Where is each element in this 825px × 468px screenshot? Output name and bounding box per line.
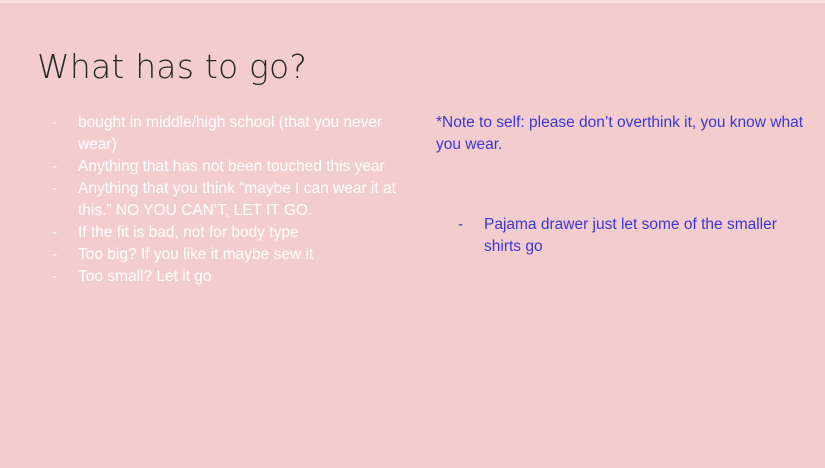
list-item-label: Too big? If you like it maybe sew it xyxy=(78,246,313,263)
list-item-label: bought in middle/high school (that you n… xyxy=(78,114,382,153)
bullet-dash-icon: - xyxy=(52,156,57,178)
bullet-dash-icon: - xyxy=(52,244,57,266)
list-item-label: Anything that has not been touched this … xyxy=(78,158,385,175)
bullet-dash-icon: - xyxy=(52,112,57,134)
note-to-self-text: *Note to self: please don’t overthink it… xyxy=(436,112,806,156)
list-item: - Too small? Let it go xyxy=(38,266,398,288)
slide-canvas: What has to go? - bought in middle/high … xyxy=(0,0,825,468)
right-content-column: *Note to self: please don’t overthink it… xyxy=(436,112,806,258)
list-item-label: If the fit is bad, not for body type xyxy=(78,224,299,241)
bullet-dash-icon: - xyxy=(52,222,57,244)
bullet-dash-icon: - xyxy=(52,266,57,288)
page-title: What has to go? xyxy=(37,47,307,87)
list-item-label: Anything that you think “maybe I can wea… xyxy=(78,180,396,219)
list-item: - Too big? If you like it maybe sew it xyxy=(38,244,398,266)
right-bullet-list: - Pajama drawer just let some of the sma… xyxy=(436,214,806,258)
list-item: - Anything that has not been touched thi… xyxy=(38,156,398,178)
bullet-dash-icon: - xyxy=(458,214,463,236)
list-item-label: Pajama drawer just let some of the small… xyxy=(484,216,777,255)
list-item: - If the fit is bad, not for body type xyxy=(38,222,398,244)
list-item: - bought in middle/high school (that you… xyxy=(38,112,398,156)
bullet-dash-icon: - xyxy=(52,178,57,200)
left-content-column: - bought in middle/high school (that you… xyxy=(38,112,398,288)
list-item: - Pajama drawer just let some of the sma… xyxy=(436,214,806,258)
slide-top-edge xyxy=(0,0,825,3)
list-item-label: Too small? Let it go xyxy=(78,268,212,285)
list-item: - Anything that you think “maybe I can w… xyxy=(38,178,398,222)
left-bullet-list: - bought in middle/high school (that you… xyxy=(38,112,398,288)
